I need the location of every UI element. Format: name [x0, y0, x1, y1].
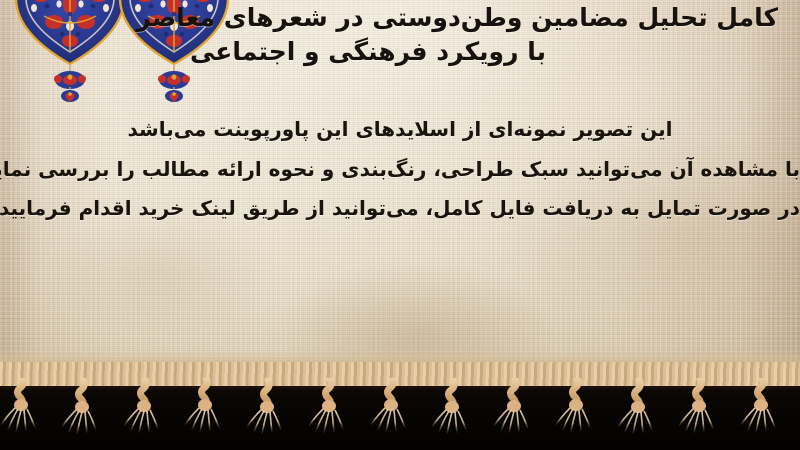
slide-title: کامل تحلیل مضامین وطن‌دوستی در شعرهای مع…	[18, 1, 778, 68]
tassel-row	[0, 378, 800, 450]
presentation-slide: کامل تحلیل مضامین وطن‌دوستی در شعرهای مع…	[0, 0, 800, 450]
slide-title-line-1: کامل تحلیل مضامین وطن‌دوستی در شعرهای مع…	[18, 1, 778, 35]
carpet-fringe-border	[0, 362, 800, 450]
slide-body-line-2: با مشاهده آن می‌توانید سبک طراحی، رنگ‌بن…	[0, 150, 800, 190]
slide-body-line-3: در صورت تمایل به دریافت فایل کامل، می‌تو…	[0, 189, 800, 229]
tassel-group-icon	[0, 378, 800, 450]
slide-body-line-1: این تصویر نمونه‌ای از اسلایدهای این پاور…	[0, 110, 800, 150]
slide-body: این تصویر نمونه‌ای از اسلایدهای این پاور…	[0, 110, 800, 229]
slide-title-line-2: با رویکرد فرهنگی و اجتماعی	[18, 35, 778, 69]
